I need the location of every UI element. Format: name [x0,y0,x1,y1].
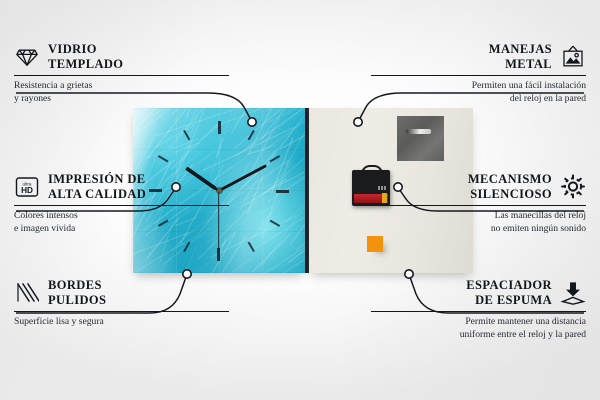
callout-header: ultra HD IMPRESIÓN DE ALTA CALIDAD [14,172,229,202]
callout-divider [14,205,229,207]
callout-header: MANEJAS METAL [371,42,586,72]
foam-spacer-part [367,236,383,252]
callout-title: ESPACIADOR DE ESPUMA [466,278,552,308]
callout-description: Las manecillas del reloj no emiten ningú… [371,210,586,235]
callout-divider [14,311,229,313]
callout-title: BORDES PULIDOS [48,278,106,308]
callout-divider [371,311,586,313]
callout-description: Permiten una fácil instalación del reloj… [371,80,586,105]
callout-header: ESPACIADOR DE ESPUMA [371,278,586,308]
callout-title: VIDRIO TEMPLADO [48,42,123,72]
callout-manejas-metal[interactable]: MANEJAS METAL Permiten una fácil instala… [371,42,586,105]
gear-icon [560,175,586,199]
metal-hanger-part [397,116,444,161]
picture-frame-hanger-icon [560,45,586,69]
ultra-hd-icon: ultra HD [14,175,40,199]
callout-divider [14,75,229,77]
callout-title: MANEJAS METAL [489,42,552,72]
polished-edges-icon [14,281,40,305]
callout-title: MECANISMO SILENCIOSO [468,172,552,202]
callout-impresion-alta-calidad[interactable]: ultra HD IMPRESIÓN DE ALTA CALIDAD Color… [14,172,229,235]
callout-description: Resistencia a grietas y rayones [14,80,229,105]
callout-title: IMPRESIÓN DE ALTA CALIDAD [48,172,146,202]
callout-header: VIDRIO TEMPLADO [14,42,229,72]
callout-description: Colores intensos e imagen vívida [14,210,229,235]
svg-text:HD: HD [21,186,33,195]
callout-divider [371,205,586,207]
callout-description: Permite mantener una distancia uniforme … [371,316,586,341]
callout-espaciador-de-espuma[interactable]: ESPACIADOR DE ESPUMA Permite mantener un… [371,278,586,341]
callout-mecanismo-silencioso[interactable]: MECANISMO SILENCIOSO [371,172,586,235]
callout-bordes-pulidos[interactable]: BORDES PULIDOS Superficie lisa y segura [14,278,229,329]
foam-spacer-arrow-icon [560,281,586,305]
callout-vidrio-templado[interactable]: VIDRIO TEMPLADO Resistencia a grietas y … [14,42,229,105]
diamond-icon [14,45,40,69]
callout-header: BORDES PULIDOS [14,278,229,308]
callout-divider [371,75,586,77]
callout-header: MECANISMO SILENCIOSO [371,172,586,202]
callout-description: Superficie lisa y segura [14,316,229,329]
infographic-canvas: VIDRIO TEMPLADO Resistencia a grietas y … [0,0,600,400]
